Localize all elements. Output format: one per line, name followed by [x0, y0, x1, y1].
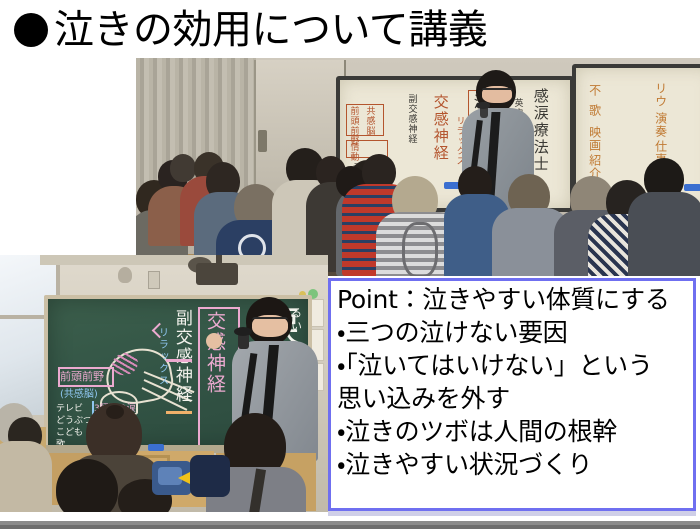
point-box-shadow [328, 511, 696, 516]
page-title: 泣きの効用について講義 [14, 4, 487, 56]
point-line-3: 思い込みを外す [337, 382, 689, 415]
point-line-1: ・三つの泣けない要因 [337, 316, 689, 349]
point-line-5: ・泣きやすい状況づくり [337, 448, 689, 481]
lecture-hall-photo: 前頭前野 共感脳 情動 テレビ どうぶつ こども 副交感神経 交感神経 リラック… [136, 58, 700, 276]
slide-root: 泣きの効用について講義 前頭前野 共感脳 情動 テレビ どうぶつ こども 副交感… [0, 0, 700, 529]
chalkboard-photo: 前頭前野 (共感脳) テレビどうぶつこども歌 3種類の涙反射の涙感情整理 副交感… [0, 255, 328, 521]
point-line-4: ・泣きのツボは人間の根幹 [337, 415, 689, 448]
footer-strip-dark [0, 525, 700, 529]
page-title-text: 泣きの効用について講義 [54, 10, 487, 50]
bottom-white-gap [0, 512, 328, 521]
point-line-2: ・「泣いてはいけない」という [337, 349, 689, 382]
point-line-0: Point：泣きやすい体質にする [337, 283, 689, 316]
point-box: Point：泣きやすい体質にする ・三つの泣けない要因 ・「泣いてはいけない」と… [328, 278, 696, 511]
bullet-dot-icon [14, 13, 48, 47]
